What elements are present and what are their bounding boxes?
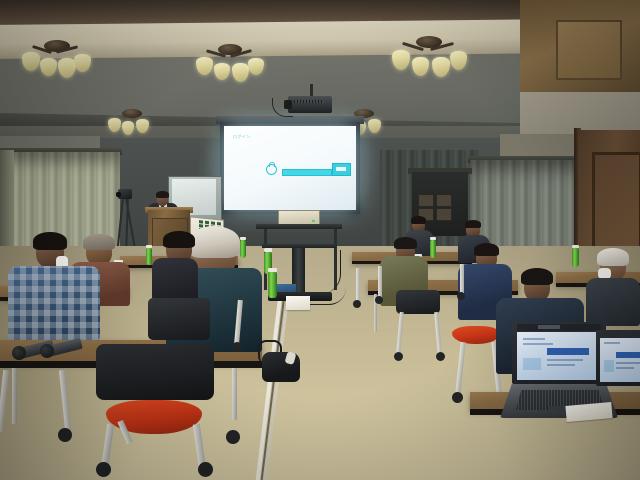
green-tea-bottle (146, 248, 152, 265)
chair-leg (378, 266, 382, 298)
slide-title: ログイン (233, 134, 251, 140)
chair-back[interactable] (396, 290, 440, 314)
desk-leg (12, 368, 17, 424)
floor-cable-cover (250, 298, 400, 480)
attendee-hair (33, 232, 67, 250)
projector-lens (284, 100, 292, 109)
ceiling-projector (288, 96, 332, 113)
attendee-hair (411, 216, 426, 224)
attendee-hair (474, 243, 499, 256)
attendee-hair (83, 234, 115, 250)
attendee-hair (521, 268, 553, 285)
projector-vent (294, 100, 324, 103)
bottle-cap (572, 245, 579, 248)
attendee-white-hair (597, 248, 629, 266)
chair-caster (452, 392, 463, 403)
chair-leg (356, 268, 360, 302)
handout-paper (286, 296, 310, 310)
laptop-computer[interactable] (596, 330, 640, 386)
bottle-cap (146, 245, 152, 248)
green-tea-bottle (268, 272, 277, 298)
chair-caster (394, 352, 403, 361)
chair-caster (198, 462, 213, 477)
bottle-cap (264, 248, 272, 252)
av-device-led (312, 220, 315, 222)
chair-back[interactable] (96, 344, 214, 400)
ceiling-valance (0, 19, 560, 59)
microphone-head (12, 346, 26, 360)
attendee-dark-hair (152, 258, 198, 300)
attendee-hair (465, 220, 481, 228)
slide-submit-button (332, 163, 351, 176)
attendee-gray-hair (188, 226, 240, 258)
chair-caster (353, 300, 361, 308)
microphone-head (40, 344, 54, 358)
attendee-hair (163, 231, 195, 248)
projection-screen: ログイン (224, 126, 356, 210)
green-tea-bottle (240, 240, 246, 258)
presenter-hair (156, 191, 169, 198)
chair-caster (232, 342, 242, 352)
slide-input-bar (282, 169, 332, 176)
chair-caster (58, 428, 72, 442)
camera-lens-icon (116, 192, 121, 197)
seminar-room-photo: ログイン (0, 0, 640, 480)
bottle-cap (240, 237, 246, 240)
desk-leg (232, 368, 237, 420)
green-tea-bottle (572, 248, 579, 267)
chair-caster (226, 430, 240, 444)
chair-back[interactable] (148, 298, 210, 340)
cart-top-shelf (256, 224, 342, 229)
bottle-cap (430, 237, 436, 240)
slide-user-icon (266, 164, 277, 175)
chair-caster (436, 352, 445, 361)
attendee-hair (394, 237, 417, 249)
chair-caster (375, 296, 383, 304)
green-tea-bottle (430, 240, 436, 258)
chair-caster (457, 292, 465, 300)
wood-panel (556, 20, 622, 80)
laptop-computer[interactable] (512, 322, 606, 384)
attendee-white-hair-body (586, 278, 640, 326)
chair-caster (96, 462, 111, 477)
attendee-checkered-shirt (8, 266, 100, 340)
bottle-cap (268, 268, 277, 272)
chair-leg (460, 264, 464, 294)
